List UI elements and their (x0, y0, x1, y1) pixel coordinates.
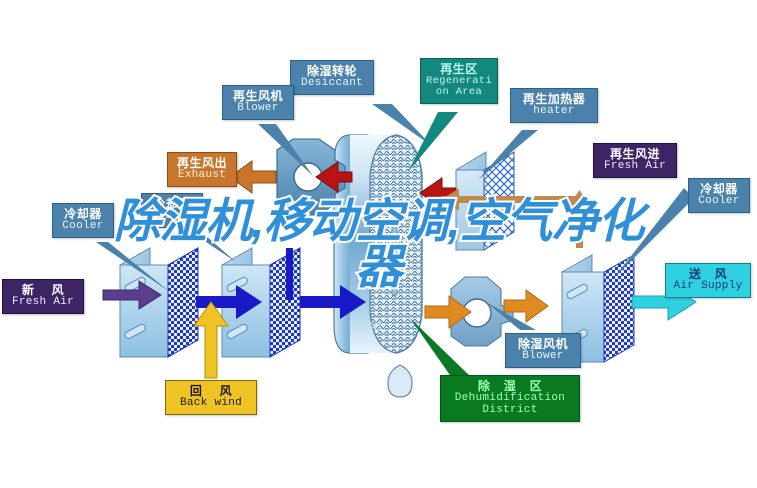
label-regen-fresh-air-in-cn: 再生风进 (597, 148, 673, 161)
label-desiccant-cn: 除湿转轮 (294, 65, 370, 78)
label-back-wind-cn: 回 风 (169, 385, 253, 398)
label-cooler-right: 冷却器 Cooler (688, 178, 750, 213)
label-exhaust-en: Exhaust (171, 170, 233, 182)
label-cooler-left-en: Cooler (56, 221, 110, 233)
label-regeneration-heater: 再生加热器 heater (510, 88, 598, 123)
label-regeneration-area-en2: on Area (424, 87, 494, 98)
svg-text:xt: xt (370, 319, 383, 334)
label-back-wind: 回 风 Back wind (165, 380, 257, 415)
label-dehumidification-blower: 除湿风机 Blower (505, 333, 581, 368)
label-regeneration-heater-en: heater (514, 106, 594, 118)
diagram-canvas: xt (0, 0, 757, 488)
label-exhaust: 再生风出 Exhaust (167, 152, 237, 187)
label-fresh-air-cn: 新 风 (6, 284, 80, 297)
label-air-supply-cn: 送 风 (669, 268, 747, 281)
label-back-wind-cn-2: 风 (220, 384, 233, 398)
label-fresh-air-cn-2: 风 (52, 283, 65, 297)
label-dehum-cn-2: 湿 (504, 379, 517, 393)
label-cooler-right-en: Cooler (692, 196, 746, 208)
label-fresh-air-en: Fresh Air (6, 297, 80, 309)
label-cooler-mid-cn: 冷却器 (145, 198, 199, 211)
label-cooler-left-cn: 冷却器 (56, 208, 110, 221)
label-dehum-cn-3: 区 (530, 379, 543, 393)
label-dehum-cn-1: 除 (478, 379, 491, 393)
label-air-supply-cn-1: 送 (689, 267, 702, 281)
label-cooler-mid: 冷却器 Cooler (141, 193, 203, 228)
label-dehumidification-blower-cn: 除湿风机 (509, 338, 577, 351)
label-exhaust-cn: 再生风出 (171, 157, 233, 170)
label-regeneration-blower: 再生风机 Blower (222, 85, 294, 120)
label-regeneration-area-cn: 再生区 (424, 63, 494, 76)
label-fresh-air-cn-1: 新 (22, 283, 35, 297)
label-dehumidification-district-en2: District (444, 405, 576, 417)
label-cooler-right-cn: 冷却器 (692, 183, 746, 196)
label-cooler-mid-en: Cooler (145, 211, 199, 223)
label-dehumidification-district-cn: 除 湿 区 (444, 380, 576, 393)
label-fresh-air: 新 风 Fresh Air (2, 279, 84, 314)
label-desiccant: 除湿转轮 Desiccant (290, 60, 374, 95)
schematic-artwork: xt (0, 0, 757, 488)
label-regen-fresh-air-in: 再生风进 Fresh Air (593, 143, 677, 178)
label-regeneration-heater-cn: 再生加热器 (514, 93, 594, 106)
label-air-supply-cn-2: 风 (715, 267, 728, 281)
label-air-supply-en: Air Supply (669, 281, 747, 293)
label-back-wind-cn-1: 回 (190, 384, 203, 398)
label-regeneration-area: 再生区 Regenerati on Area (420, 58, 498, 104)
label-back-wind-en: Back wind (169, 398, 253, 410)
label-regeneration-blower-en: Blower (226, 103, 290, 115)
label-regen-fresh-air-in-en: Fresh Air (597, 161, 673, 173)
label-cooler-left: 冷却器 Cooler (52, 203, 114, 238)
label-air-supply: 送 风 Air Supply (665, 263, 751, 298)
label-desiccant-en: Desiccant (294, 78, 370, 90)
arrow-process-down (286, 248, 293, 300)
label-regeneration-blower-cn: 再生风机 (226, 90, 290, 103)
label-dehumidification-blower-en: Blower (509, 351, 577, 363)
label-dehumidification-district: 除 湿 区 Dehumidification District (440, 375, 580, 422)
